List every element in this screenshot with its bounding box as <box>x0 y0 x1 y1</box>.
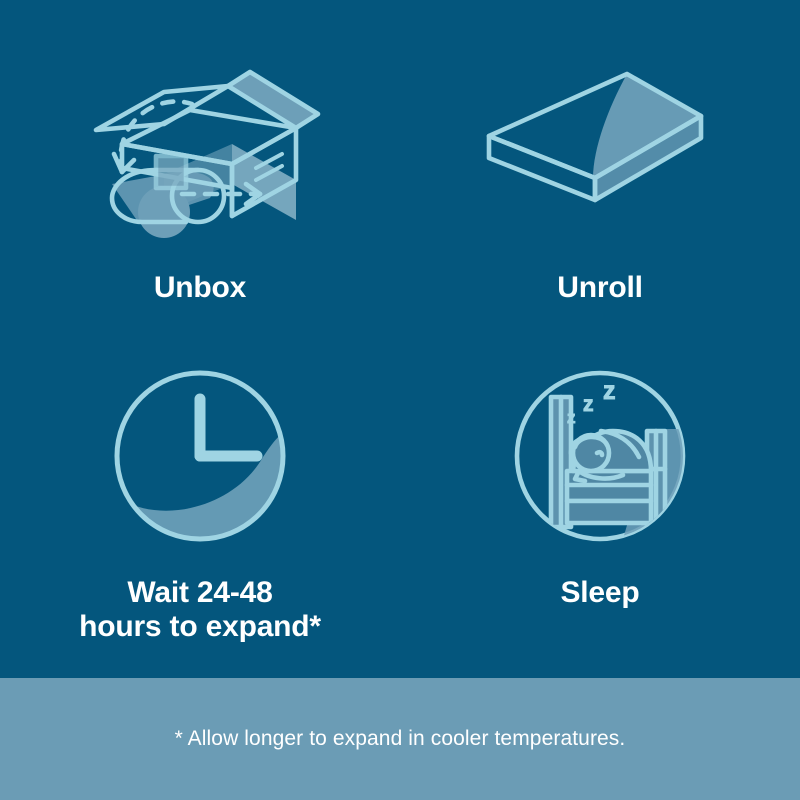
footnote-text: * Allow longer to expand in cooler tempe… <box>175 727 626 751</box>
step-wait: Wait 24-48 hours to expand* <box>0 339 400 678</box>
svg-text:z: z <box>583 393 594 416</box>
clock-icon <box>105 361 295 556</box>
sleeping-person-icon: z z z <box>505 361 695 556</box>
footnote-band: * Allow longer to expand in cooler tempe… <box>0 678 800 800</box>
step-unbox: Unbox <box>0 0 400 339</box>
step-wait-label: Wait 24-48 hours to expand* <box>79 576 321 643</box>
step-sleep-label: Sleep <box>560 576 639 610</box>
infographic-page: Unbox <box>0 0 800 800</box>
step-unbox-label: Unbox <box>154 271 246 305</box>
unbox-icon <box>60 52 340 257</box>
steps-grid: Unbox <box>0 0 800 678</box>
step-unroll: Unroll <box>400 0 800 339</box>
svg-text:z: z <box>567 408 576 427</box>
svg-text:z: z <box>603 377 616 405</box>
step-sleep: z z z Sleep <box>400 339 800 678</box>
unroll-mattress-icon <box>475 52 725 257</box>
step-unroll-label: Unroll <box>557 271 642 305</box>
